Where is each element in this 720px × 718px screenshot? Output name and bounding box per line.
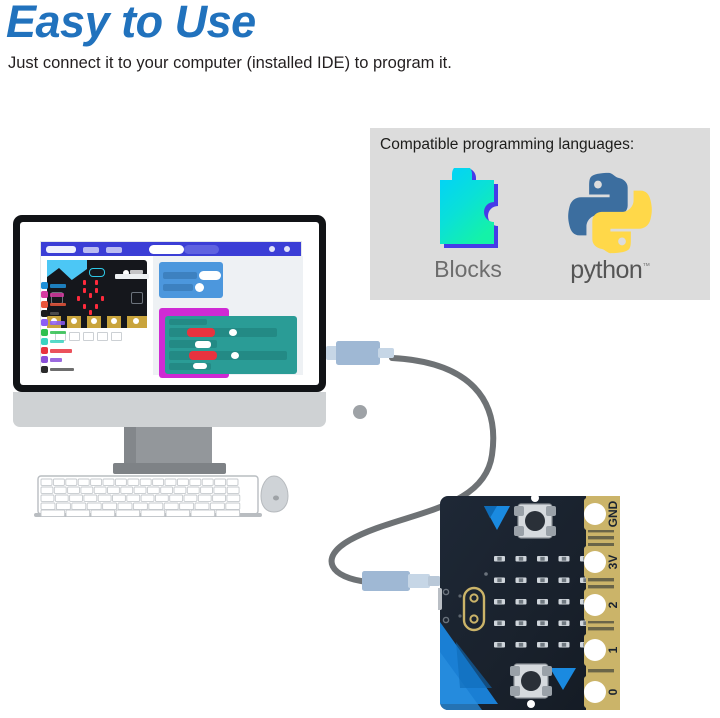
category-color-swatch xyxy=(41,301,48,308)
keyboard-key[interactable] xyxy=(190,479,201,485)
toolbox-category-basic[interactable] xyxy=(41,282,83,290)
keyboard-key[interactable] xyxy=(81,487,93,493)
keyboard-key[interactable] xyxy=(41,479,52,485)
keyboard-key[interactable] xyxy=(165,479,176,485)
keyboard-key[interactable] xyxy=(91,510,115,516)
keyboard-key[interactable] xyxy=(184,495,197,501)
keyboard-key[interactable] xyxy=(147,487,159,493)
keyboard-key[interactable] xyxy=(227,479,238,485)
keyboard-key[interactable] xyxy=(227,495,240,501)
category-color-swatch xyxy=(41,347,48,354)
keyboard-key[interactable] xyxy=(72,503,86,509)
keyboard-key[interactable] xyxy=(108,487,120,493)
edge-pad-hole xyxy=(584,594,606,616)
led-core xyxy=(519,557,523,561)
keyboard-key[interactable] xyxy=(134,487,146,493)
category-color-swatch xyxy=(41,291,48,298)
led-core xyxy=(519,600,523,604)
keyboard-key[interactable] xyxy=(153,479,164,485)
keyboard-key[interactable] xyxy=(170,495,183,501)
usb-connector-microbit xyxy=(356,564,446,598)
simulator-button-b[interactable] xyxy=(131,292,143,304)
keyboard-key[interactable] xyxy=(226,503,240,509)
gear-icon[interactable] xyxy=(284,246,290,252)
sim-control-slow[interactable] xyxy=(83,332,94,341)
category-label xyxy=(50,368,74,372)
monitor-chin xyxy=(13,392,326,427)
edge-tooth xyxy=(588,578,614,581)
keyboard-key[interactable] xyxy=(149,503,163,509)
sim-control-mute[interactable] xyxy=(97,332,108,341)
category-label xyxy=(50,349,72,353)
toolbox-category-input[interactable] xyxy=(41,291,83,299)
keyboard-key[interactable] xyxy=(140,479,151,485)
led-core xyxy=(519,643,523,647)
microbit-board: GND3V210 xyxy=(438,492,638,718)
keyboard-key[interactable] xyxy=(87,503,101,509)
keyboard-key[interactable] xyxy=(54,487,66,493)
edge-tooth xyxy=(588,585,614,588)
edge-pin-label: 0 xyxy=(606,688,620,695)
keyboard-key[interactable] xyxy=(41,503,55,509)
editor-topbar xyxy=(41,242,301,256)
keyboard-key[interactable] xyxy=(121,487,133,493)
keyboard-key[interactable] xyxy=(56,503,70,509)
edge-pin-label: 3V xyxy=(606,555,620,570)
block-on-start[interactable] xyxy=(159,262,223,298)
led-core xyxy=(540,643,544,647)
keyboard-key[interactable] xyxy=(84,495,97,501)
toolbox-search-input[interactable] xyxy=(115,274,149,279)
led-core xyxy=(562,643,566,647)
keyboard-key[interactable] xyxy=(187,487,199,493)
block-text-input[interactable] xyxy=(199,271,221,280)
block-show-string[interactable] xyxy=(163,272,197,279)
keyboard-key[interactable] xyxy=(41,495,54,501)
keyboard-key[interactable] xyxy=(177,479,188,485)
toolbox-category-variables[interactable] xyxy=(41,347,83,355)
toolbox-category-radio[interactable] xyxy=(41,319,83,327)
edge-tooth xyxy=(588,536,614,539)
led-core xyxy=(519,578,523,582)
led-core xyxy=(497,578,501,582)
led-core xyxy=(497,621,501,625)
block-variable-1[interactable] xyxy=(187,328,215,337)
led-core xyxy=(562,557,566,561)
keyboard-key[interactable] xyxy=(201,487,213,493)
category-label xyxy=(50,303,66,307)
edge-pad-hole xyxy=(584,551,606,573)
editor-left-pane xyxy=(41,256,153,375)
keyboard-key[interactable] xyxy=(227,487,239,493)
toolbar-item-share[interactable] xyxy=(106,247,122,253)
led-core xyxy=(540,621,544,625)
keyboard-key[interactable] xyxy=(55,495,68,501)
keyboard-key[interactable] xyxy=(41,510,65,516)
keyboard-key[interactable] xyxy=(127,495,140,501)
led-core xyxy=(540,557,544,561)
simulator-chip xyxy=(89,268,105,277)
category-color-swatch xyxy=(41,310,48,317)
microbit-logo-icon xyxy=(46,246,76,253)
block-variable-2[interactable] xyxy=(189,351,217,360)
keyboard-key[interactable] xyxy=(202,479,213,485)
edge-pin-label: 1 xyxy=(606,646,620,653)
led-core xyxy=(562,600,566,604)
edge-pin-label: GND xyxy=(606,500,620,527)
monitor-stand xyxy=(127,427,212,467)
category-color-swatch xyxy=(41,366,48,373)
block-show-number[interactable] xyxy=(163,284,193,291)
keyboard-key[interactable] xyxy=(141,510,165,516)
keyboard-key[interactable] xyxy=(213,495,226,501)
keyboard-key[interactable] xyxy=(161,487,173,493)
tab-javascript[interactable] xyxy=(184,245,219,254)
led-core xyxy=(540,578,544,582)
category-color-swatch xyxy=(41,282,48,289)
keyboard-key[interactable] xyxy=(191,510,215,516)
led-core xyxy=(497,600,501,604)
category-color-swatch xyxy=(41,338,48,345)
led-core xyxy=(562,578,566,582)
category-label xyxy=(50,293,64,297)
help-icon[interactable] xyxy=(269,246,275,252)
block-if[interactable] xyxy=(169,328,277,337)
category-color-swatch xyxy=(41,329,48,336)
keyboard-key[interactable] xyxy=(53,479,64,485)
led-core xyxy=(562,621,566,625)
keyboard-key[interactable] xyxy=(195,503,209,509)
illustration-root: Easy to Use Just connect it to your comp… xyxy=(0,0,720,718)
keyboard-key[interactable] xyxy=(98,495,111,501)
keyboard-key[interactable] xyxy=(113,495,126,501)
keyboard-key[interactable] xyxy=(78,479,89,485)
monitor xyxy=(13,215,326,392)
keyboard-key[interactable] xyxy=(68,487,80,493)
keyboard-key[interactable] xyxy=(216,510,240,516)
edge-pin-label: 2 xyxy=(606,601,620,608)
keyboard-key[interactable] xyxy=(103,479,114,485)
category-label xyxy=(50,340,64,344)
keyboard-key[interactable] xyxy=(115,479,126,485)
keyboard-key[interactable] xyxy=(128,479,139,485)
toolbar-item-home[interactable] xyxy=(83,247,99,253)
keyboard-key[interactable] xyxy=(116,510,140,516)
monitor-screen xyxy=(20,222,319,385)
category-label xyxy=(50,284,66,288)
toolbox-category-music[interactable] xyxy=(41,301,83,309)
keyboard-key[interactable] xyxy=(66,479,77,485)
makecode-editor xyxy=(40,241,302,374)
keyboard-key[interactable] xyxy=(133,503,147,509)
monitor-stand-shadow xyxy=(124,427,136,467)
toolbox-category-led[interactable] xyxy=(41,310,83,318)
editor-workspace[interactable] xyxy=(153,256,303,375)
category-color-swatch xyxy=(41,319,48,326)
keyboard-key[interactable] xyxy=(94,487,106,493)
edge-connector: GND3V210 xyxy=(584,496,620,710)
toolbox-category-advanced[interactable] xyxy=(41,366,83,374)
toolbox-category-logic[interactable] xyxy=(41,338,83,346)
mouse[interactable] xyxy=(258,474,298,518)
category-label xyxy=(50,358,62,362)
category-label xyxy=(50,312,59,316)
monitor-power-button[interactable] xyxy=(353,405,367,419)
keyboard-key[interactable] xyxy=(103,503,117,509)
simulator-backdrop xyxy=(47,260,87,280)
toolbox-category-math[interactable] xyxy=(41,356,83,364)
keyboard-key[interactable] xyxy=(214,487,226,493)
usb-connector-computer xyxy=(326,338,406,374)
keyboard-key[interactable] xyxy=(91,479,102,485)
led-core xyxy=(497,643,501,647)
keyboard-key[interactable] xyxy=(41,487,53,493)
category-label xyxy=(50,331,66,335)
led-core xyxy=(540,600,544,604)
keyboard-key[interactable] xyxy=(198,495,211,501)
keyboard-key[interactable] xyxy=(66,510,90,516)
block-else-if[interactable] xyxy=(169,351,287,360)
toolbox-category-loops[interactable] xyxy=(41,329,83,337)
edge-pad-hole xyxy=(584,681,606,703)
usb-port xyxy=(438,588,442,610)
tab-blocks[interactable] xyxy=(149,245,184,254)
keyboard-key[interactable] xyxy=(118,503,132,509)
edge-pad-hole xyxy=(584,503,606,525)
sim-control-fullscreen[interactable] xyxy=(111,332,122,341)
edge-tooth xyxy=(588,627,614,630)
keyboard-key[interactable] xyxy=(155,495,168,501)
keyboard-key[interactable] xyxy=(210,503,224,509)
keyboard-key[interactable] xyxy=(166,510,190,516)
category-label xyxy=(50,321,65,325)
edge-pad-hole xyxy=(584,639,606,661)
keyboard-key[interactable] xyxy=(141,495,154,501)
category-color-swatch xyxy=(41,356,48,363)
keyboard-key[interactable] xyxy=(70,495,83,501)
led-core xyxy=(497,557,501,561)
keyboard-key[interactable] xyxy=(215,479,226,485)
keyboard-key[interactable] xyxy=(164,503,178,509)
edge-tooth xyxy=(588,669,614,672)
block-number-input[interactable] xyxy=(195,283,204,292)
keyboard-key[interactable] xyxy=(180,503,194,509)
edge-tooth xyxy=(588,543,614,546)
led-core xyxy=(519,621,523,625)
keyboard-key[interactable] xyxy=(174,487,186,493)
